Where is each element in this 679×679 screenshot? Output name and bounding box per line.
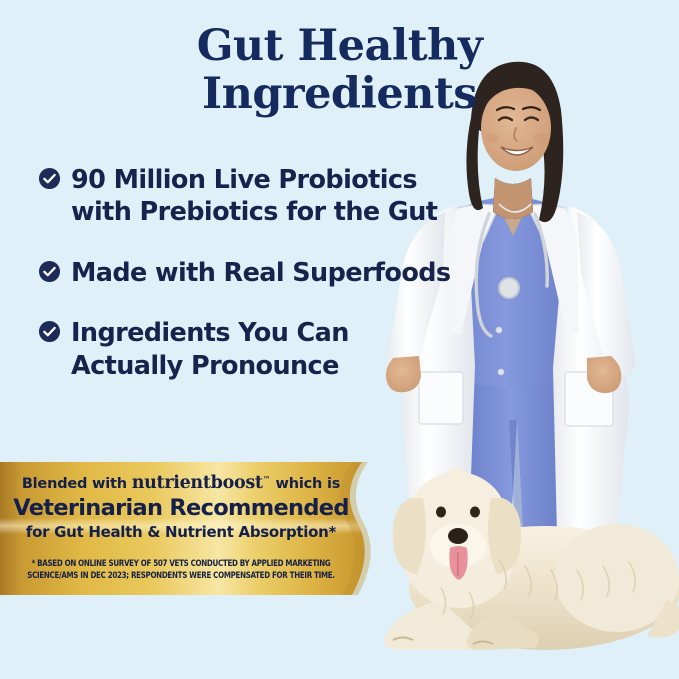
banner-text-block: Blended with nutrientboost™ which is Vet… — [0, 462, 362, 595]
list-item: Made with Real Superfoods — [38, 257, 458, 289]
list-item: Ingredients You Can Actually Pronounce — [38, 317, 458, 382]
title-line-1: Gut Healthy — [197, 21, 483, 71]
ad-creative: Gut Healthy Ingredients 90 Million Live … — [0, 0, 679, 679]
check-circle-icon — [38, 260, 61, 283]
page-title: Gut Healthy Ingredients — [0, 22, 679, 118]
gold-ribbon-banner: Blended with nutrientboost™ which is Vet… — [0, 462, 390, 595]
brand-name: nutrientboost — [132, 473, 263, 493]
banner-line1-prefix: Blended with — [22, 476, 132, 492]
banner-disclaimer: * BASED ON ONLINE SURVEY OF 507 VETS CON… — [25, 558, 336, 583]
list-item-label: Ingredients You Can Actually Pronounce — [71, 317, 349, 382]
banner-line-1: Blended with nutrientboost™ which is — [0, 474, 362, 493]
list-item: 90 Million Live Probiotics with Prebioti… — [38, 164, 458, 229]
banner-line1-suffix: which is — [271, 476, 341, 492]
list-item-label: 90 Million Live Probiotics with Prebioti… — [71, 164, 437, 229]
banner-headline: Veterinarian Recommended — [0, 496, 362, 520]
vet-scrub-top — [449, 197, 573, 387]
title-line-2: Ingredients — [0, 70, 679, 118]
banner-subline: for Gut Health & Nutrient Absorption* — [0, 524, 362, 541]
benefits-list: 90 Million Live Probiotics with Prebioti… — [38, 164, 458, 382]
list-item-label: Made with Real Superfoods — [71, 257, 451, 289]
stethoscope-icon — [476, 214, 547, 336]
trademark-symbol: ™ — [263, 475, 271, 484]
check-circle-icon — [38, 167, 61, 190]
vet-scrub-pants — [453, 360, 566, 583]
check-circle-icon — [38, 320, 61, 343]
dog-goldendoodle — [384, 467, 679, 650]
